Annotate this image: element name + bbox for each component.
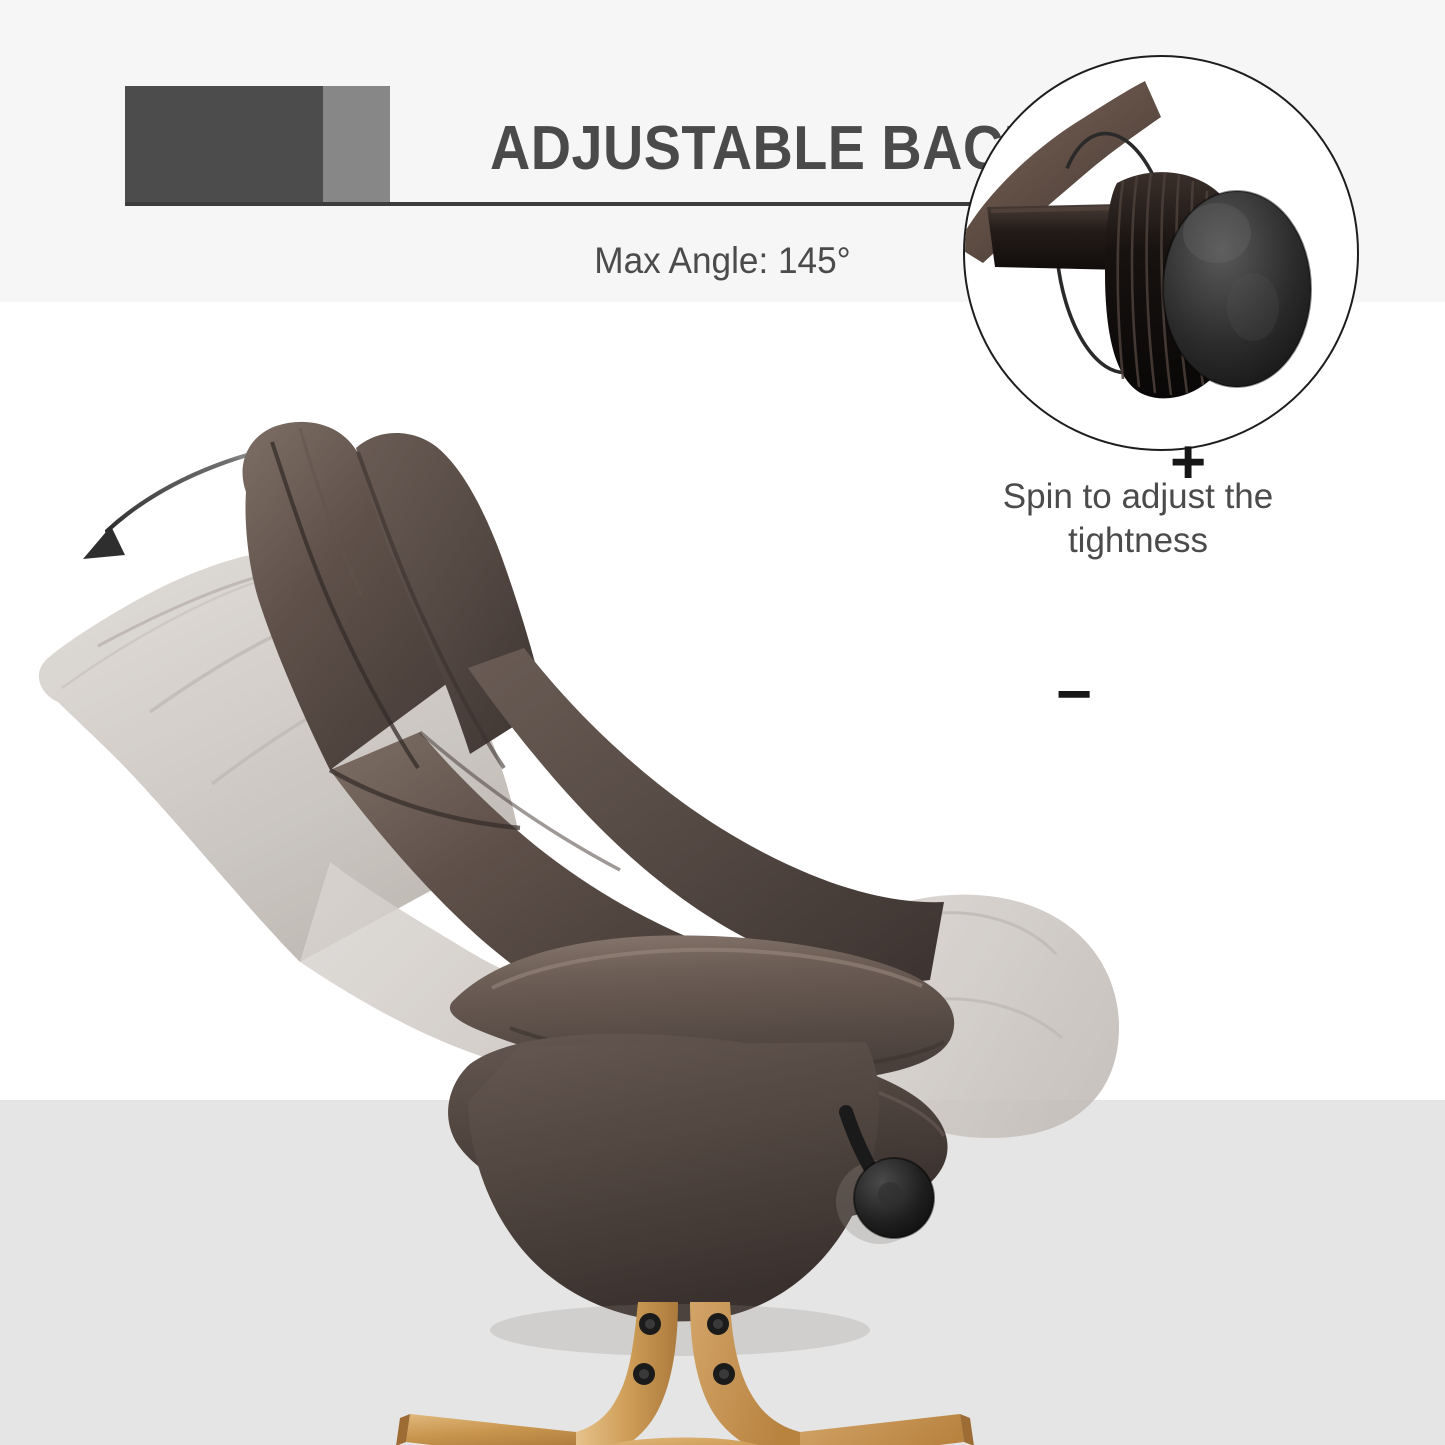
product-scene: [0, 302, 1445, 1445]
infographic-page: ADJUSTABLE BACKREST Max Angle: 145°: [0, 0, 1445, 1445]
knob-detail-caption: Spin to adjust the tightness: [948, 475, 1328, 563]
knob-detail-illustration: [965, 57, 1357, 449]
header-accent-block-mid: [323, 86, 390, 202]
header-accent-block: [125, 86, 390, 202]
header-accent-block-dark: [125, 86, 323, 202]
recliner-chair-illustration: [0, 302, 1445, 1445]
knob-detail-inset: [963, 55, 1359, 451]
decrease-tightness-minus-icon: −: [1056, 664, 1092, 726]
